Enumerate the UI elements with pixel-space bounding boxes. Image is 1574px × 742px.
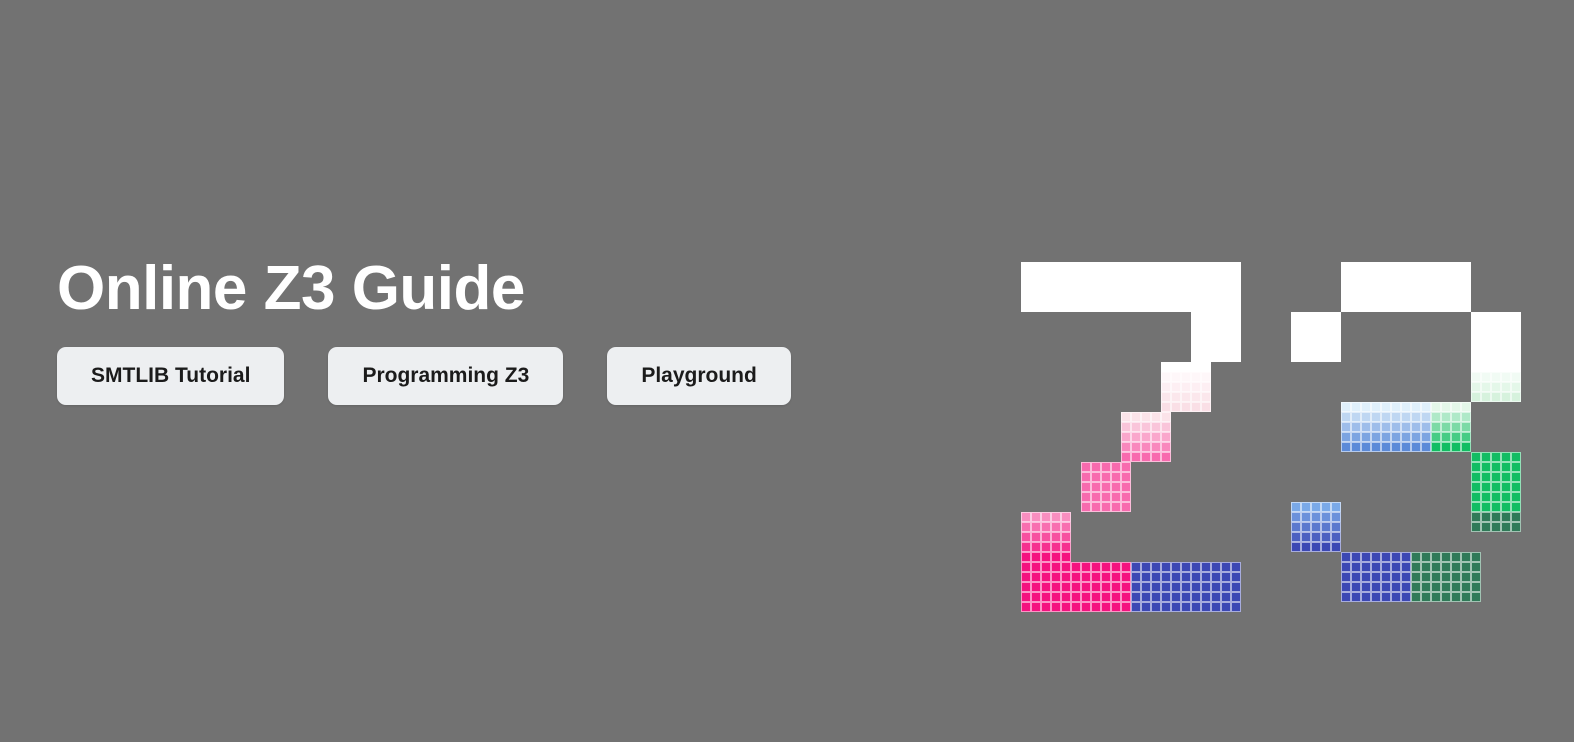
logo-pixel bbox=[1231, 272, 1241, 282]
logo-pixel bbox=[1231, 342, 1241, 352]
logo-pixel bbox=[1181, 392, 1191, 402]
logo-pixel bbox=[1351, 302, 1361, 312]
logo-pixel bbox=[1331, 502, 1341, 512]
logo-pixel bbox=[1131, 412, 1141, 422]
logo-pixel bbox=[1131, 302, 1141, 312]
logo-pixel bbox=[1131, 272, 1141, 282]
logo-pixel bbox=[1391, 442, 1401, 452]
logo-pixel bbox=[1161, 272, 1171, 282]
logo-pixel bbox=[1201, 352, 1211, 362]
logo-pixel bbox=[1471, 392, 1481, 402]
logo-pixel bbox=[1441, 562, 1451, 572]
logo-pixel bbox=[1061, 302, 1071, 312]
logo-pixel bbox=[1391, 432, 1401, 442]
logo-pixel bbox=[1191, 262, 1201, 272]
logo-pixel bbox=[1091, 292, 1101, 302]
logo-pixel bbox=[1421, 422, 1431, 432]
logo-pixel bbox=[1121, 502, 1131, 512]
logo-pixel bbox=[1061, 262, 1071, 272]
logo-pixel bbox=[1471, 362, 1481, 372]
logo-pixel bbox=[1111, 602, 1121, 612]
logo-pixel bbox=[1101, 602, 1111, 612]
logo-pixel bbox=[1161, 582, 1171, 592]
logo-pixel bbox=[1121, 422, 1131, 432]
logo-pixel bbox=[1051, 512, 1061, 522]
logo-pixel bbox=[1361, 412, 1371, 422]
logo-pixel bbox=[1041, 542, 1051, 552]
logo-pixel bbox=[1231, 562, 1241, 572]
logo-pixel bbox=[1451, 582, 1461, 592]
logo-pixel bbox=[1431, 262, 1441, 272]
logo-pixel bbox=[1401, 272, 1411, 282]
logo-pixel bbox=[1201, 292, 1211, 302]
logo-pixel bbox=[1371, 552, 1381, 562]
logo-pixel bbox=[1231, 282, 1241, 292]
logo-pixel bbox=[1381, 582, 1391, 592]
logo-pixel bbox=[1061, 582, 1071, 592]
logo-pixel bbox=[1161, 262, 1171, 272]
logo-pixel bbox=[1391, 552, 1401, 562]
logo-pixel bbox=[1361, 562, 1371, 572]
logo-pixel bbox=[1381, 562, 1391, 572]
logo-pixel bbox=[1181, 582, 1191, 592]
logo-pixel bbox=[1201, 262, 1211, 272]
logo-pixel bbox=[1051, 302, 1061, 312]
logo-pixel bbox=[1391, 302, 1401, 312]
logo-pixel bbox=[1121, 462, 1131, 472]
logo-pixel bbox=[1021, 292, 1031, 302]
logo-pixel bbox=[1051, 522, 1061, 532]
logo-pixel bbox=[1161, 372, 1171, 382]
logo-pixel bbox=[1411, 302, 1421, 312]
logo-pixel bbox=[1431, 402, 1441, 412]
logo-pixel bbox=[1401, 302, 1411, 312]
logo-pixel bbox=[1191, 602, 1201, 612]
logo-pixel bbox=[1161, 282, 1171, 292]
logo-pixel bbox=[1151, 262, 1161, 272]
logo-pixel bbox=[1431, 412, 1441, 422]
logo-pixel bbox=[1141, 302, 1151, 312]
logo-pixel bbox=[1091, 472, 1101, 482]
logo-pixel bbox=[1291, 502, 1301, 512]
logo-pixel bbox=[1221, 262, 1231, 272]
logo-pixel bbox=[1161, 362, 1171, 372]
logo-pixel bbox=[1481, 362, 1491, 372]
logo-pixel bbox=[1161, 402, 1171, 412]
logo-pixel bbox=[1171, 262, 1181, 272]
logo-pixel bbox=[1081, 262, 1091, 272]
logo-pixel bbox=[1121, 562, 1131, 572]
programming-z3-button[interactable]: Programming Z3 bbox=[328, 347, 563, 405]
logo-pixel bbox=[1221, 602, 1231, 612]
logo-pixel bbox=[1511, 462, 1521, 472]
logo-pixel bbox=[1511, 522, 1521, 532]
logo-pixel bbox=[1411, 422, 1421, 432]
logo-pixel bbox=[1321, 542, 1331, 552]
logo-pixel bbox=[1121, 582, 1131, 592]
logo-pixel bbox=[1451, 302, 1461, 312]
logo-pixel bbox=[1471, 372, 1481, 382]
logo-pixel bbox=[1021, 582, 1031, 592]
logo-pixel bbox=[1471, 552, 1481, 562]
logo-pixel bbox=[1081, 602, 1091, 612]
logo-pixel bbox=[1461, 402, 1471, 412]
logo-pixel bbox=[1501, 512, 1511, 522]
logo-pixel bbox=[1451, 412, 1461, 422]
logo-pixel bbox=[1201, 362, 1211, 372]
logo-pixel bbox=[1101, 492, 1111, 502]
smtlib-tutorial-button[interactable]: SMTLIB Tutorial bbox=[57, 347, 284, 405]
logo-pixel bbox=[1361, 552, 1371, 562]
logo-pixel bbox=[1301, 542, 1311, 552]
logo-pixel bbox=[1451, 572, 1461, 582]
logo-pixel bbox=[1351, 552, 1361, 562]
logo-pixel bbox=[1371, 422, 1381, 432]
logo-pixel bbox=[1101, 562, 1111, 572]
logo-pixel bbox=[1111, 292, 1121, 302]
logo-pixel bbox=[1501, 352, 1511, 362]
logo-pixel bbox=[1181, 262, 1191, 272]
logo-pixel bbox=[1021, 602, 1031, 612]
logo-pixel bbox=[1431, 272, 1441, 282]
logo-pixel bbox=[1151, 582, 1161, 592]
logo-pixel bbox=[1481, 482, 1491, 492]
logo-pixel bbox=[1511, 362, 1521, 372]
logo-pixel bbox=[1371, 572, 1381, 582]
logo-pixel bbox=[1481, 332, 1491, 342]
logo-pixel bbox=[1191, 562, 1201, 572]
logo-pixel bbox=[1061, 272, 1071, 282]
logo-pixel bbox=[1151, 592, 1161, 602]
logo-pixel bbox=[1441, 552, 1451, 562]
logo-pixel bbox=[1031, 522, 1041, 532]
logo-pixel bbox=[1461, 272, 1471, 282]
logo-pixel bbox=[1481, 452, 1491, 462]
logo-pixel bbox=[1441, 402, 1451, 412]
hero-section: Online Z3 Guide SMTLIB Tutorial Programm… bbox=[57, 256, 957, 405]
logo-pixel bbox=[1391, 272, 1401, 282]
logo-pixel bbox=[1371, 262, 1381, 272]
logo-pixel bbox=[1331, 532, 1341, 542]
logo-pixel bbox=[1201, 342, 1211, 352]
logo-pixel bbox=[1441, 292, 1451, 302]
logo-pixel bbox=[1411, 432, 1421, 442]
logo-pixel bbox=[1481, 392, 1491, 402]
logo-pixel bbox=[1161, 602, 1171, 612]
logo-pixel bbox=[1211, 282, 1221, 292]
logo-pixel bbox=[1231, 352, 1241, 362]
logo-pixel bbox=[1331, 512, 1341, 522]
logo-pixel bbox=[1361, 262, 1371, 272]
logo-pixel bbox=[1171, 562, 1181, 572]
logo-pixel bbox=[1151, 292, 1161, 302]
logo-pixel bbox=[1421, 562, 1431, 572]
logo-pixel bbox=[1471, 502, 1481, 512]
logo-pixel bbox=[1141, 442, 1151, 452]
logo-pixel bbox=[1431, 592, 1441, 602]
logo-pixel bbox=[1441, 432, 1451, 442]
logo-pixel bbox=[1211, 332, 1221, 342]
logo-pixel bbox=[1231, 592, 1241, 602]
logo-pixel bbox=[1471, 462, 1481, 472]
logo-pixel bbox=[1391, 422, 1401, 432]
logo-pixel bbox=[1341, 282, 1351, 292]
logo-pixel bbox=[1221, 592, 1231, 602]
logo-pixel bbox=[1511, 492, 1521, 502]
logo-pixel bbox=[1071, 582, 1081, 592]
logo-pixel bbox=[1181, 292, 1191, 302]
logo-pixel bbox=[1301, 312, 1311, 322]
logo-pixel bbox=[1201, 392, 1211, 402]
logo-pixel bbox=[1191, 352, 1201, 362]
logo-pixel bbox=[1431, 292, 1441, 302]
logo-pixel bbox=[1341, 292, 1351, 302]
logo-pixel bbox=[1401, 552, 1411, 562]
logo-pixel bbox=[1091, 482, 1101, 492]
logo-pixel bbox=[1051, 572, 1061, 582]
logo-pixel bbox=[1031, 542, 1041, 552]
playground-button[interactable]: Playground bbox=[607, 347, 791, 405]
logo-pixel bbox=[1401, 282, 1411, 292]
logo-pixel bbox=[1111, 302, 1121, 312]
logo-pixel bbox=[1351, 432, 1361, 442]
logo-pixel bbox=[1411, 262, 1421, 272]
logo-pixel bbox=[1151, 302, 1161, 312]
logo-pixel bbox=[1091, 582, 1101, 592]
logo-pixel bbox=[1391, 582, 1401, 592]
logo-pixel bbox=[1041, 602, 1051, 612]
logo-pixel bbox=[1471, 572, 1481, 582]
logo-pixel bbox=[1171, 402, 1181, 412]
logo-pixel bbox=[1411, 292, 1421, 302]
logo-pixel bbox=[1391, 292, 1401, 302]
logo-pixel bbox=[1411, 582, 1421, 592]
logo-pixel bbox=[1121, 412, 1131, 422]
logo-pixel bbox=[1491, 322, 1501, 332]
logo-pixel bbox=[1051, 552, 1061, 562]
logo-pixel bbox=[1191, 342, 1201, 352]
logo-pixel bbox=[1361, 572, 1371, 582]
logo-pixel bbox=[1021, 262, 1031, 272]
logo-pixel bbox=[1471, 472, 1481, 482]
logo-pixel bbox=[1471, 562, 1481, 572]
logo-pixel bbox=[1121, 282, 1131, 292]
logo-pixel bbox=[1451, 442, 1461, 452]
logo-pixel bbox=[1411, 282, 1421, 292]
logo-pixel bbox=[1151, 572, 1161, 582]
logo-pixel bbox=[1141, 582, 1151, 592]
logo-pixel bbox=[1191, 582, 1201, 592]
logo-pixel bbox=[1061, 602, 1071, 612]
logo-pixel bbox=[1491, 372, 1501, 382]
logo-pixel bbox=[1361, 302, 1371, 312]
logo-pixel bbox=[1381, 302, 1391, 312]
logo-pixel bbox=[1311, 352, 1321, 362]
logo-pixel bbox=[1441, 302, 1451, 312]
logo-pixel bbox=[1501, 462, 1511, 472]
logo-pixel bbox=[1431, 422, 1441, 432]
logo-pixel bbox=[1231, 322, 1241, 332]
logo-pixel bbox=[1041, 302, 1051, 312]
logo-pixel bbox=[1481, 342, 1491, 352]
logo-pixel bbox=[1081, 472, 1091, 482]
logo-pixel bbox=[1481, 382, 1491, 392]
logo-pixel bbox=[1461, 292, 1471, 302]
logo-pixel bbox=[1511, 502, 1521, 512]
logo-pixel bbox=[1411, 562, 1421, 572]
logo-pixel bbox=[1191, 402, 1201, 412]
logo-pixel bbox=[1111, 592, 1121, 602]
logo-pixel bbox=[1391, 262, 1401, 272]
logo-pixel bbox=[1121, 572, 1131, 582]
logo-pixel bbox=[1381, 272, 1391, 282]
logo-pixel bbox=[1031, 602, 1041, 612]
logo-pixel bbox=[1051, 542, 1061, 552]
logo-pixel bbox=[1291, 532, 1301, 542]
logo-pixel bbox=[1161, 562, 1171, 572]
logo-pixel bbox=[1361, 282, 1371, 292]
logo-pixel bbox=[1511, 452, 1521, 462]
logo-pixel bbox=[1041, 262, 1051, 272]
logo-pixel bbox=[1141, 292, 1151, 302]
logo-pixel bbox=[1021, 592, 1031, 602]
logo-pixel bbox=[1361, 442, 1371, 452]
logo-pixel bbox=[1091, 462, 1101, 472]
logo-pixel bbox=[1051, 532, 1061, 542]
logo-pixel bbox=[1391, 402, 1401, 412]
logo-pixel bbox=[1161, 382, 1171, 392]
logo-pixel bbox=[1231, 582, 1241, 592]
logo-pixel bbox=[1151, 602, 1161, 612]
logo-pixel bbox=[1441, 592, 1451, 602]
logo-pixel bbox=[1481, 512, 1491, 522]
logo-pixel bbox=[1081, 562, 1091, 572]
logo-pixel bbox=[1161, 392, 1171, 402]
logo-pixel bbox=[1211, 322, 1221, 332]
logo-pixel bbox=[1151, 412, 1161, 422]
logo-pixel bbox=[1401, 422, 1411, 432]
logo-pixel bbox=[1181, 302, 1191, 312]
logo-pixel bbox=[1121, 482, 1131, 492]
logo-pixel bbox=[1421, 552, 1431, 562]
logo-pixel bbox=[1031, 552, 1041, 562]
logo-pixel bbox=[1101, 292, 1111, 302]
logo-pixel bbox=[1061, 552, 1071, 562]
logo-pixel bbox=[1401, 402, 1411, 412]
logo-pixel bbox=[1201, 302, 1211, 312]
logo-pixel bbox=[1061, 562, 1071, 572]
logo-pixel bbox=[1431, 582, 1441, 592]
logo-pixel bbox=[1181, 372, 1191, 382]
logo-pixel bbox=[1291, 332, 1301, 342]
logo-pixel bbox=[1421, 272, 1431, 282]
logo-pixel bbox=[1371, 272, 1381, 282]
logo-pixel bbox=[1101, 592, 1111, 602]
logo-pixel bbox=[1111, 572, 1121, 582]
logo-pixel bbox=[1071, 572, 1081, 582]
logo-pixel bbox=[1191, 312, 1201, 322]
logo-pixel bbox=[1401, 572, 1411, 582]
logo-pixel bbox=[1491, 382, 1501, 392]
logo-pixel bbox=[1511, 392, 1521, 402]
logo-pixel bbox=[1371, 562, 1381, 572]
logo-pixel bbox=[1311, 542, 1321, 552]
logo-pixel bbox=[1491, 472, 1501, 482]
logo-pixel bbox=[1131, 562, 1141, 572]
logo-pixel bbox=[1491, 482, 1501, 492]
logo-pixel bbox=[1091, 492, 1101, 502]
logo-pixel bbox=[1051, 602, 1061, 612]
logo-pixel bbox=[1101, 572, 1111, 582]
logo-pixel bbox=[1461, 262, 1471, 272]
logo-pixel bbox=[1491, 502, 1501, 512]
logo-pixel bbox=[1441, 272, 1451, 282]
logo-pixel bbox=[1121, 452, 1131, 462]
logo-pixel bbox=[1431, 302, 1441, 312]
logo-pixel bbox=[1221, 272, 1231, 282]
logo-pixel bbox=[1221, 342, 1231, 352]
logo-pixel bbox=[1071, 592, 1081, 602]
logo-pixel bbox=[1211, 352, 1221, 362]
logo-pixel bbox=[1311, 312, 1321, 322]
logo-pixel bbox=[1371, 432, 1381, 442]
logo-pixel bbox=[1491, 362, 1501, 372]
logo-pixel bbox=[1141, 432, 1151, 442]
logo-pixel bbox=[1021, 522, 1031, 532]
logo-pixel bbox=[1301, 352, 1311, 362]
logo-pixel bbox=[1391, 592, 1401, 602]
logo-pixel bbox=[1401, 592, 1411, 602]
logo-pixel bbox=[1141, 562, 1151, 572]
logo-pixel bbox=[1361, 432, 1371, 442]
logo-pixel bbox=[1141, 282, 1151, 292]
logo-pixel bbox=[1411, 272, 1421, 282]
logo-pixel bbox=[1461, 412, 1471, 422]
logo-pixel bbox=[1421, 432, 1431, 442]
logo-pixel bbox=[1201, 372, 1211, 382]
logo-pixel bbox=[1061, 282, 1071, 292]
logo-pixel bbox=[1191, 332, 1201, 342]
logo-pixel bbox=[1041, 282, 1051, 292]
logo-pixel bbox=[1291, 512, 1301, 522]
logo-pixel bbox=[1231, 312, 1241, 322]
logo-pixel bbox=[1491, 312, 1501, 322]
logo-pixel bbox=[1171, 382, 1181, 392]
logo-pixel bbox=[1481, 322, 1491, 332]
logo-pixel bbox=[1101, 482, 1111, 492]
logo-pixel bbox=[1131, 572, 1141, 582]
logo-pixel bbox=[1071, 602, 1081, 612]
logo-pixel bbox=[1071, 292, 1081, 302]
logo-pixel bbox=[1161, 302, 1171, 312]
logo-pixel bbox=[1491, 462, 1501, 472]
logo-pixel bbox=[1381, 442, 1391, 452]
logo-pixel bbox=[1491, 392, 1501, 402]
logo-pixel bbox=[1321, 532, 1331, 542]
logo-pixel bbox=[1481, 462, 1491, 472]
logo-pixel bbox=[1201, 602, 1211, 612]
logo-pixel bbox=[1341, 412, 1351, 422]
logo-pixel bbox=[1471, 322, 1481, 332]
logo-pixel bbox=[1051, 582, 1061, 592]
logo-pixel bbox=[1111, 262, 1121, 272]
logo-pixel bbox=[1061, 592, 1071, 602]
logo-pixel bbox=[1381, 422, 1391, 432]
logo-pixel bbox=[1351, 272, 1361, 282]
logo-pixel bbox=[1211, 302, 1221, 312]
logo-pixel bbox=[1361, 582, 1371, 592]
logo-pixel bbox=[1081, 282, 1091, 292]
